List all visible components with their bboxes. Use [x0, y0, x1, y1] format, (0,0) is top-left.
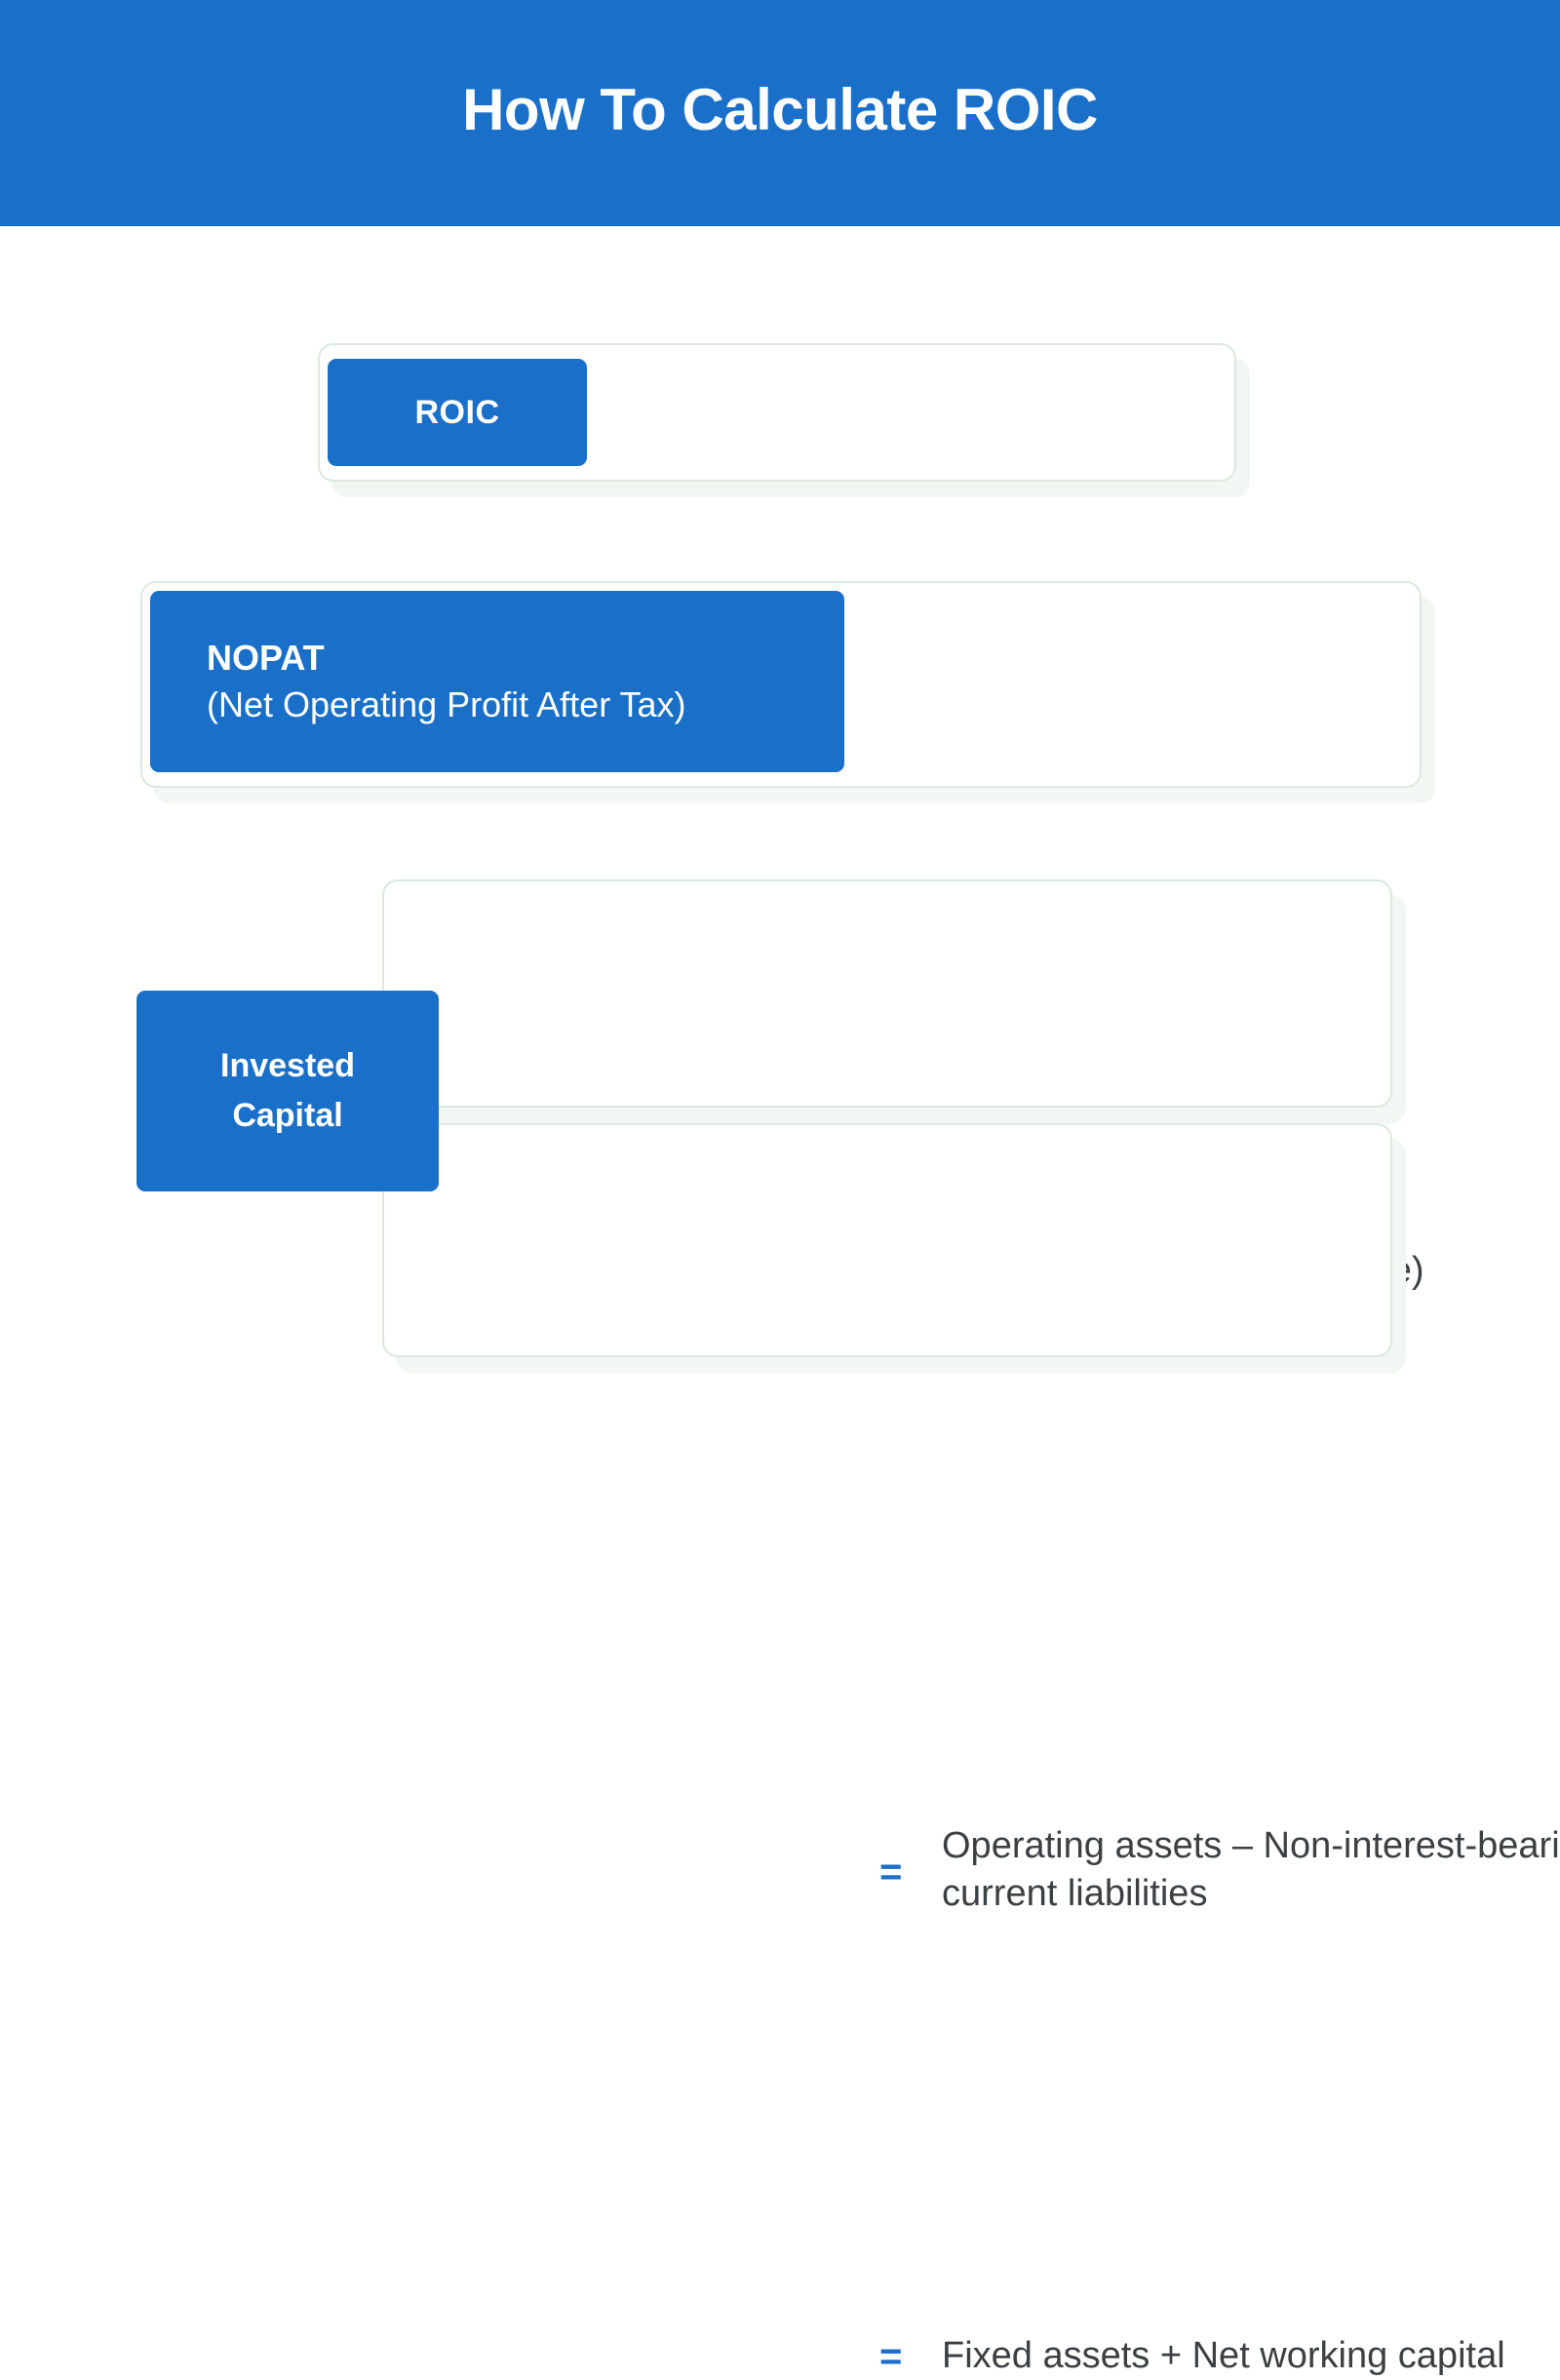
page-title: How To Calculate ROIC: [462, 81, 1098, 145]
invested-capital-chip-label-line2: Capital: [232, 1091, 342, 1141]
roic-chip-label: ROIC: [415, 394, 500, 432]
invested-capital-formula-text-1: Operating assets – Non-interest-bearing …: [942, 1822, 1560, 1917]
invested-capital-definition-card-1: = Operating assets – Non-interest-bearin…: [382, 879, 1392, 1108]
invested-capital-formula-text-2: Fixed assets + Net working capital: [942, 2332, 1560, 2380]
equals-sign-invested-capital-2: =: [879, 2337, 902, 2376]
invested-capital-chip-label-line1: Invested: [220, 1041, 355, 1091]
nopat-chip-label: NOPAT: [207, 635, 325, 682]
equals-sign-invested-capital-1: =: [879, 1853, 902, 1892]
nopat-label-chip: NOPAT (Net Operating Profit After Tax): [150, 591, 844, 772]
nopat-chip-sublabel: (Net Operating Profit After Tax): [207, 682, 686, 728]
invested-capital-definition-card-2: = Fixed assets + Net working capital: [382, 1123, 1392, 1357]
roic-label-chip: ROIC: [328, 359, 587, 466]
header-banner: How To Calculate ROIC: [0, 0, 1560, 226]
invested-capital-label-chip: Invested Capital: [136, 991, 439, 1191]
